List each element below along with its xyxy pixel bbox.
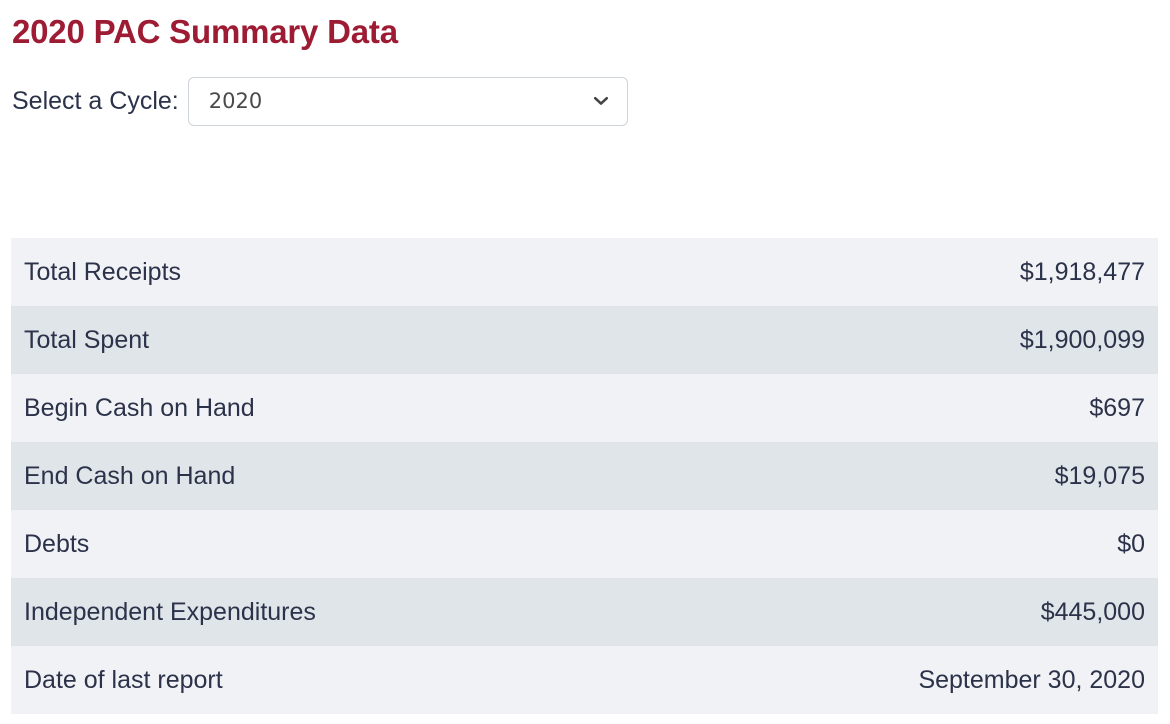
page-title: 2020 PAC Summary Data [12, 12, 398, 52]
row-label: Total Receipts [11, 238, 585, 306]
row-value: $697 [585, 374, 1159, 442]
row-value: $1,918,477 [585, 238, 1159, 306]
table-row: Total Receipts $1,918,477 [11, 238, 1158, 306]
table-row: Debts $0 [11, 510, 1158, 578]
row-value: $445,000 [585, 578, 1159, 646]
row-label: Independent Expenditures [11, 578, 585, 646]
table-row: Total Spent $1,900,099 [11, 306, 1158, 374]
row-label: Debts [11, 510, 585, 578]
chevron-down-icon[interactable] [592, 92, 610, 110]
row-label: Total Spent [11, 306, 585, 374]
row-label: End Cash on Hand [11, 442, 585, 510]
cycle-select-value: 2020 [189, 89, 262, 114]
table-row: Begin Cash on Hand $697 [11, 374, 1158, 442]
table-row: Date of last report September 30, 2020 [11, 646, 1158, 714]
cycle-selector-row: Select a Cycle: 2020 [12, 76, 628, 126]
table-row: Independent Expenditures $445,000 [11, 578, 1158, 646]
pac-summary-page: 2020 PAC Summary Data Select a Cycle: 20… [0, 0, 1170, 724]
row-label: Begin Cash on Hand [11, 374, 585, 442]
row-value: September 30, 2020 [585, 646, 1159, 714]
summary-table-body: Total Receipts $1,918,477 Total Spent $1… [11, 238, 1158, 714]
table-row: End Cash on Hand $19,075 [11, 442, 1158, 510]
row-label: Date of last report [11, 646, 585, 714]
pac-summary-table: Total Receipts $1,918,477 Total Spent $1… [11, 238, 1158, 714]
row-value: $19,075 [585, 442, 1159, 510]
cycle-select-label: Select a Cycle: [12, 86, 188, 116]
row-value: $1,900,099 [585, 306, 1159, 374]
cycle-select[interactable]: 2020 [188, 77, 628, 126]
row-value: $0 [585, 510, 1159, 578]
